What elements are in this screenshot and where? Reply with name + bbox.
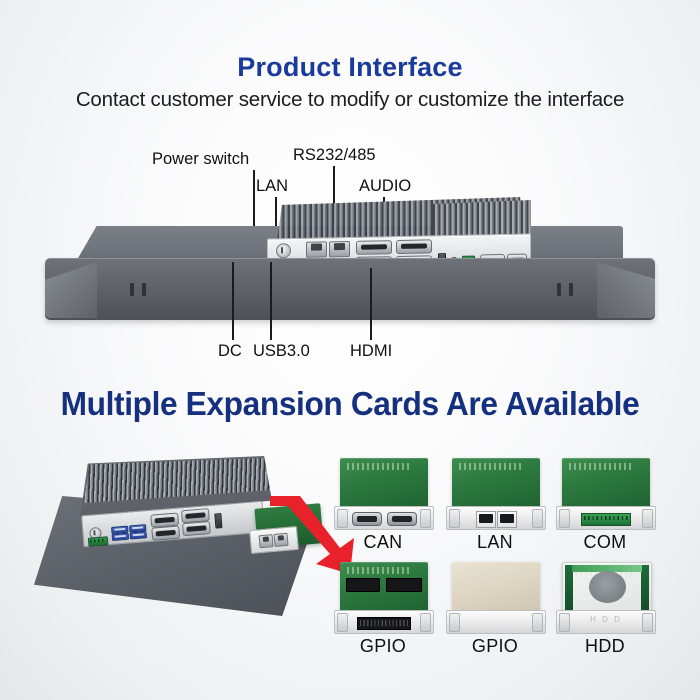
lan-rj45-1: [476, 511, 496, 528]
com-bracket-tab-left: [559, 509, 570, 528]
gpio2-bracket-tab-right: [532, 613, 543, 632]
page-title: Product Interface: [0, 52, 700, 83]
lan-port-1: [306, 241, 327, 257]
lan-bracket-tab-right: [532, 509, 543, 528]
hdd-rail-right: [641, 565, 649, 611]
callout-usb30-label: USB3.0: [253, 342, 310, 361]
com-card-pcb: [562, 458, 650, 508]
can-card-bracket: [334, 506, 434, 530]
gpio1-connector: [357, 617, 411, 630]
serial-port-2: [396, 239, 432, 254]
gpio1-card-pcb: [340, 562, 428, 612]
callout-rs232-label: RS232/485: [293, 146, 376, 165]
hdd-card-bracket: H D D: [556, 610, 656, 634]
vent-slot-3: [557, 283, 561, 296]
expansion-card-hdd-label: HDD: [556, 636, 654, 657]
gpio2-bracket-tab-left: [449, 613, 460, 632]
callout-dc-label: DC: [218, 342, 242, 361]
pb-usb-4: [130, 531, 148, 539]
gpio1-bracket-tab-left: [337, 613, 348, 632]
page-subtitle: Contact customer service to modify or cu…: [0, 88, 700, 112]
hdd-bracket-emboss-text: H D D: [557, 615, 655, 624]
lan-rj45-2: [497, 511, 517, 528]
panel-pc-rear-view: [45, 196, 655, 346]
expansion-card-gpio-1[interactable]: GPIO: [334, 562, 432, 634]
pb-serial-4: [182, 521, 211, 536]
gpio1-header-2: [386, 578, 422, 592]
power-switch-port: [276, 243, 291, 258]
device-display-rear: [45, 258, 655, 320]
expansion-card-gpio-1-label: GPIO: [334, 636, 432, 657]
callout-hdmi-label: HDMI: [350, 342, 392, 361]
leader-line-usb30: [270, 262, 272, 340]
expansion-card-can[interactable]: CAN: [334, 458, 432, 530]
pb-usb-3: [112, 533, 130, 541]
expansion-card-gpio-2[interactable]: GPIO: [446, 562, 544, 634]
com-bracket-tab-right: [642, 509, 653, 528]
hdd-card-pcb: [562, 562, 652, 614]
com-card-bracket: [556, 506, 656, 530]
gpio1-card-bracket: [334, 610, 434, 634]
lan-port-2: [329, 241, 350, 257]
lan-card-bracket: [446, 506, 546, 530]
pb-hdmi: [214, 513, 222, 529]
hdd-rail-left: [565, 565, 573, 611]
expansion-card-can-label: CAN: [334, 532, 432, 553]
expansion-card-com-label: COM: [556, 532, 654, 553]
product-interface-page: Product Interface Contact customer servi…: [0, 0, 700, 700]
com-terminal-block: [581, 513, 631, 526]
expansion-card-lan[interactable]: LAN: [446, 458, 544, 530]
expansion-card-hdd[interactable]: H D D HDD: [556, 562, 654, 634]
lan-card-pcb: [452, 458, 540, 508]
leader-line-hdmi: [370, 268, 372, 340]
callout-audio-label: AUDIO: [359, 177, 411, 196]
can-dsub-2: [387, 512, 417, 526]
expansion-card-com[interactable]: COM: [556, 458, 654, 530]
pb-serial-3: [151, 526, 180, 541]
can-bracket-tab-right: [420, 509, 431, 528]
can-card-pcb: [340, 458, 428, 508]
callout-lan-label: LAN: [256, 177, 288, 196]
gpio2-card-pcb: [452, 562, 540, 612]
expansion-card-lan-label: LAN: [446, 532, 544, 553]
gpio1-header-1: [346, 578, 380, 592]
callout-power-switch-label: Power switch: [152, 150, 249, 169]
hdd-platter: [589, 571, 626, 603]
leader-line-dc: [232, 262, 234, 340]
vent-slot-2: [142, 283, 146, 296]
can-dsub-1: [352, 512, 382, 526]
serial-port-1: [356, 240, 392, 255]
pb-dc-terminal: [88, 536, 109, 547]
expansion-card-gpio-2-label: GPIO: [446, 636, 544, 657]
gpio1-bracket-tab-right: [420, 613, 431, 632]
expansion-heading: Multiple Expansion Cards Are Available: [14, 385, 686, 423]
can-bracket-tab-left: [337, 509, 348, 528]
gpio2-card-bracket: [446, 610, 546, 634]
vent-slot-4: [569, 283, 573, 296]
lan-bracket-tab-left: [449, 509, 460, 528]
vent-slot-1: [130, 283, 134, 296]
